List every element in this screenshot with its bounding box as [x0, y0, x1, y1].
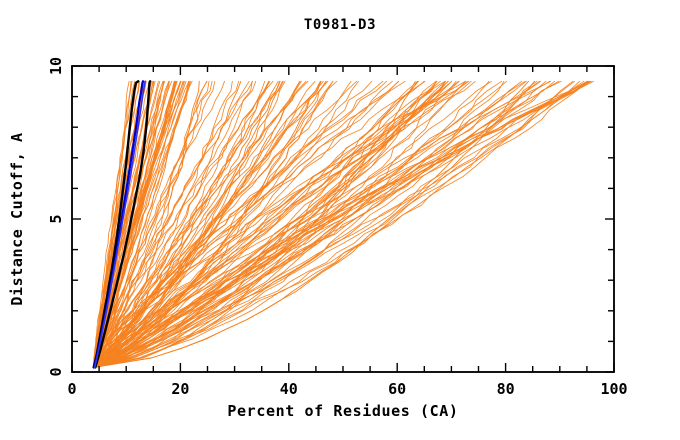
- page-title: T0981-D3: [304, 17, 376, 33]
- x-tick-label: 80: [497, 380, 515, 398]
- y-tick-label: 0: [47, 367, 65, 376]
- chart-figure: 0204060801000510Percent of Residues (CA)…: [0, 0, 680, 440]
- y-axis-title: Distance Cutoff, A: [8, 132, 26, 305]
- plot-root: 0204060801000510Percent of Residues (CA)…: [0, 0, 680, 440]
- x-tick-label: 20: [171, 380, 189, 398]
- x-tick-label: 0: [67, 380, 76, 398]
- x-tick-label: 60: [388, 380, 406, 398]
- y-tick-label: 5: [47, 214, 65, 223]
- x-tick-label: 100: [600, 380, 627, 398]
- y-tick-label: 10: [47, 57, 65, 75]
- x-axis-title: Percent of Residues (CA): [227, 402, 458, 420]
- x-tick-label: 40: [280, 380, 298, 398]
